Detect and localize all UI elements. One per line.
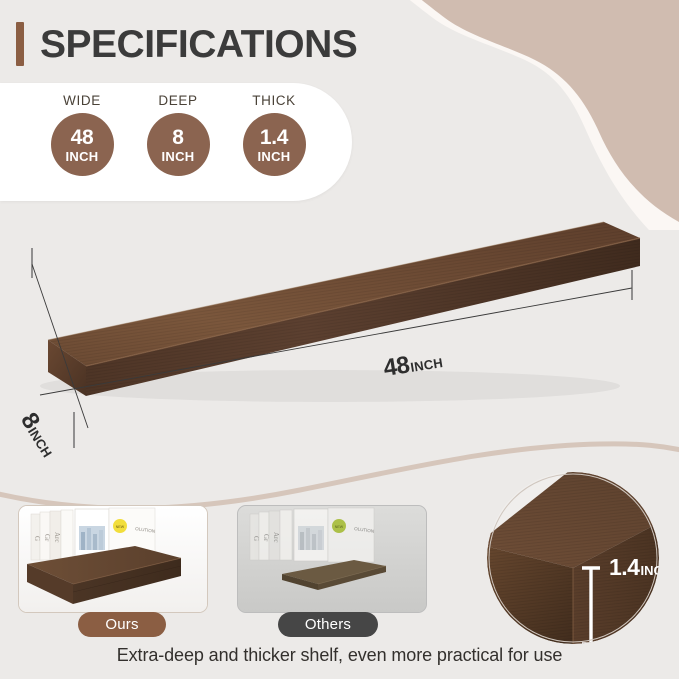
thickness-dimension-label: 1.4 INCH <box>609 554 659 581</box>
thickness-closeup-circle: 1.4 INCH <box>487 472 659 644</box>
spec-label-thick: THICK <box>252 93 296 108</box>
svg-text:Gr: Gr <box>262 534 270 542</box>
svg-text:NEW: NEW <box>335 525 344 529</box>
comparison-panel-ours: G Gr Arc NEW OLUTION <box>18 505 208 613</box>
spec-unit-thick: INCH <box>258 150 291 163</box>
svg-text:Arc: Arc <box>272 532 280 543</box>
thickness-unit: INCH <box>640 563 659 578</box>
infographic-canvas: SPECIFICATIONS WIDE 48 INCH DEEP 8 INCH … <box>0 0 679 679</box>
page-title: SPECIFICATIONS <box>40 25 357 64</box>
spec-value-deep: 8 <box>172 127 183 148</box>
shelf-hero-illustration <box>0 200 679 470</box>
comparison-panel-others: G Gr Arc NEW OLUTION <box>237 505 427 613</box>
spec-label-wide: WIDE <box>63 93 101 108</box>
svg-text:NEW: NEW <box>116 525 125 529</box>
thickness-value: 1.4 <box>609 554 639 581</box>
spec-unit-deep: INCH <box>162 150 195 163</box>
svg-text:G: G <box>33 536 41 541</box>
width-dimension-value: 48 <box>382 351 412 383</box>
spec-item-thick: THICK 1.4 INCH <box>226 83 322 176</box>
specifications-card: WIDE 48 INCH DEEP 8 INCH THICK 1.4 INCH <box>0 83 352 201</box>
spec-label-deep: DEEP <box>158 93 197 108</box>
svg-text:Gr: Gr <box>43 534 51 542</box>
spec-item-wide: WIDE 48 INCH <box>34 83 130 176</box>
svg-text:G: G <box>252 536 260 541</box>
badge-ours: Ours <box>78 612 166 637</box>
badge-others: Others <box>278 612 378 637</box>
spec-circle-deep: 8 INCH <box>147 113 210 176</box>
page-header: SPECIFICATIONS <box>0 18 460 70</box>
width-dimension-unit: INCH <box>409 355 444 375</box>
spec-value-wide: 48 <box>71 127 94 148</box>
title-accent-bar <box>16 22 24 66</box>
bottom-caption: Extra-deep and thicker shelf, even more … <box>0 645 679 666</box>
svg-text:Arc: Arc <box>53 532 61 543</box>
spec-unit-wide: INCH <box>66 150 99 163</box>
spec-value-thick: 1.4 <box>260 127 288 148</box>
spec-circle-wide: 48 INCH <box>51 113 114 176</box>
spec-circle-thick: 1.4 INCH <box>243 113 306 176</box>
spec-item-deep: DEEP 8 INCH <box>130 83 226 176</box>
